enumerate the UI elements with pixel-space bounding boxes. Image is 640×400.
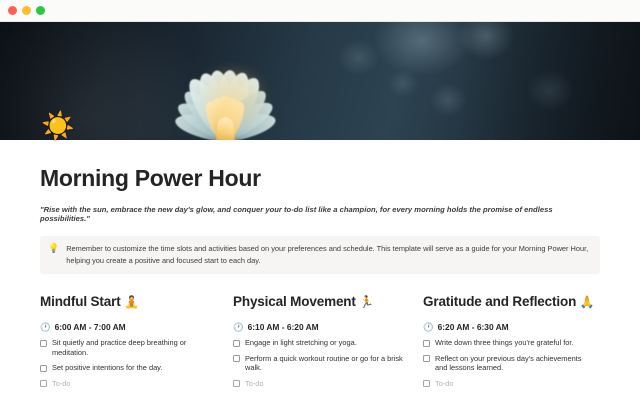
clock-icon: 🕐 — [40, 323, 51, 332]
todo-label: Sit quietly and practice deep breathing … — [52, 338, 212, 357]
todo-checkbox[interactable] — [40, 380, 47, 387]
window-titlebar — [0, 0, 640, 22]
sun-icon[interactable]: ☀️ — [41, 113, 75, 140]
column-physical-movement: Physical Movement 🏃 🕐 6:10 AM - 6:20 AM … — [233, 294, 423, 394]
todo-label: Reflect on your previous day's achieveme… — [435, 354, 595, 373]
lightbulb-icon: 💡 — [48, 243, 59, 266]
todo-checkbox[interactable] — [40, 340, 47, 347]
clock-icon: 🕐 — [423, 323, 434, 332]
todo-list: Sit quietly and practice deep breathing … — [40, 338, 233, 388]
clock-icon: 🕐 — [233, 323, 244, 332]
column-gratitude-reflection: Gratitude and Reflection 🙏 🕐 6:20 AM - 6… — [423, 294, 600, 394]
minimize-window-icon[interactable] — [22, 6, 31, 15]
todo-item[interactable]: Reflect on your previous day's achieveme… — [423, 354, 600, 373]
todo-item[interactable]: Write down three things you're grateful … — [423, 338, 600, 348]
todo-item-placeholder[interactable]: To-do — [423, 379, 600, 389]
todo-checkbox[interactable] — [423, 355, 430, 362]
page-title: Morning Power Hour — [40, 165, 600, 192]
todo-item[interactable]: Sit quietly and practice deep breathing … — [40, 338, 233, 357]
hero-cover-image[interactable] — [0, 22, 640, 140]
page-content: Morning Power Hour "Rise with the sun, e… — [0, 140, 640, 400]
column-heading: Mindful Start 🧘 — [40, 294, 233, 309]
callout-text: Remember to customize the time slots and… — [66, 243, 590, 266]
callout-block: 💡 Remember to customize the time slots a… — [40, 236, 600, 274]
column-heading: Gratitude and Reflection 🙏 — [423, 294, 600, 309]
app-window: ☀️ Morning Power Hour "Rise with the sun… — [0, 0, 640, 400]
time-range-row: 🕐 6:20 AM - 6:30 AM — [423, 322, 600, 332]
column-heading: Physical Movement 🏃 — [233, 294, 423, 309]
todo-checkbox[interactable] — [233, 355, 240, 362]
close-window-icon[interactable] — [8, 6, 17, 15]
maximize-window-icon[interactable] — [36, 6, 45, 15]
column-mindful-start: Mindful Start 🧘 🕐 6:00 AM - 7:00 AM Sit … — [40, 294, 233, 394]
column-heading-label: Gratitude and Reflection — [423, 294, 576, 309]
time-range-label: 6:20 AM - 6:30 AM — [438, 322, 509, 332]
time-range-row: 🕐 6:10 AM - 6:20 AM — [233, 322, 423, 332]
todo-label: Write down three things you're grateful … — [435, 338, 573, 348]
todo-checkbox[interactable] — [40, 365, 47, 372]
hero-vignette — [0, 22, 640, 140]
todo-item-placeholder[interactable]: To-do — [233, 379, 423, 389]
meditation-icon: 🧘 — [124, 295, 139, 309]
time-range-row: 🕐 6:00 AM - 7:00 AM — [40, 322, 233, 332]
todo-checkbox[interactable] — [233, 380, 240, 387]
todo-label: To-do — [435, 379, 454, 389]
page-quote: "Rise with the sun, embrace the new day'… — [40, 205, 600, 223]
todo-label: Set positive intentions for the day. — [52, 363, 162, 373]
todo-checkbox[interactable] — [423, 380, 430, 387]
runner-icon: 🏃 — [359, 295, 374, 309]
todo-label: To-do — [245, 379, 264, 389]
todo-checkbox[interactable] — [233, 340, 240, 347]
todo-item-placeholder[interactable]: To-do — [40, 379, 233, 389]
praying-hands-icon: 🙏 — [580, 295, 595, 309]
column-heading-label: Physical Movement — [233, 294, 356, 309]
time-range-label: 6:10 AM - 6:20 AM — [248, 322, 319, 332]
todo-item[interactable]: Set positive intentions for the day. — [40, 363, 233, 373]
todo-item[interactable]: Engage in light stretching or yoga. — [233, 338, 423, 348]
column-list: Mindful Start 🧘 🕐 6:00 AM - 7:00 AM Sit … — [40, 294, 600, 394]
todo-checkbox[interactable] — [423, 340, 430, 347]
todo-item[interactable]: Perform a quick workout routine or go fo… — [233, 354, 423, 373]
todo-list: Engage in light stretching or yoga. Perf… — [233, 338, 423, 388]
todo-label: Engage in light stretching or yoga. — [245, 338, 357, 348]
todo-label: To-do — [52, 379, 71, 389]
column-heading-label: Mindful Start — [40, 294, 121, 309]
todo-label: Perform a quick workout routine or go fo… — [245, 354, 405, 373]
todo-list: Write down three things you're grateful … — [423, 338, 600, 388]
time-range-label: 6:00 AM - 7:00 AM — [55, 322, 126, 332]
